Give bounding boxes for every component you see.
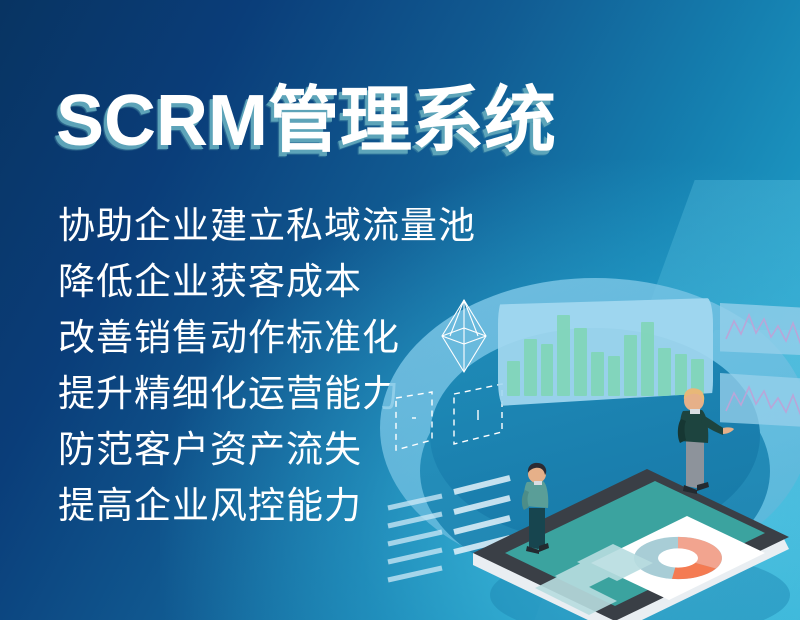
bar <box>507 361 520 396</box>
bar <box>541 344 554 396</box>
dashed-square-icon <box>390 388 438 460</box>
scrm-promo-banner: SCRM管理系统 协助企业建立私域流量池 降低企业获客成本 改善销售动作标准化 … <box>0 0 800 620</box>
bar <box>557 315 570 396</box>
bar <box>658 348 671 396</box>
bar <box>524 339 537 396</box>
bar <box>574 328 587 396</box>
bar <box>591 352 604 396</box>
page-title: SCRM管理系统 <box>56 85 556 157</box>
bar <box>624 335 637 396</box>
striped-panel-left-icon <box>386 488 446 588</box>
isometric-dashboard-illustration <box>390 270 800 620</box>
person-dark-hair-figure <box>515 450 561 554</box>
feature-item: 协助企业建立私域流量池 <box>58 198 476 254</box>
crystal-wireframe-icon <box>438 298 490 374</box>
bar <box>608 356 621 396</box>
person-blonde-pointing-figure <box>670 375 736 495</box>
bar <box>641 322 654 396</box>
